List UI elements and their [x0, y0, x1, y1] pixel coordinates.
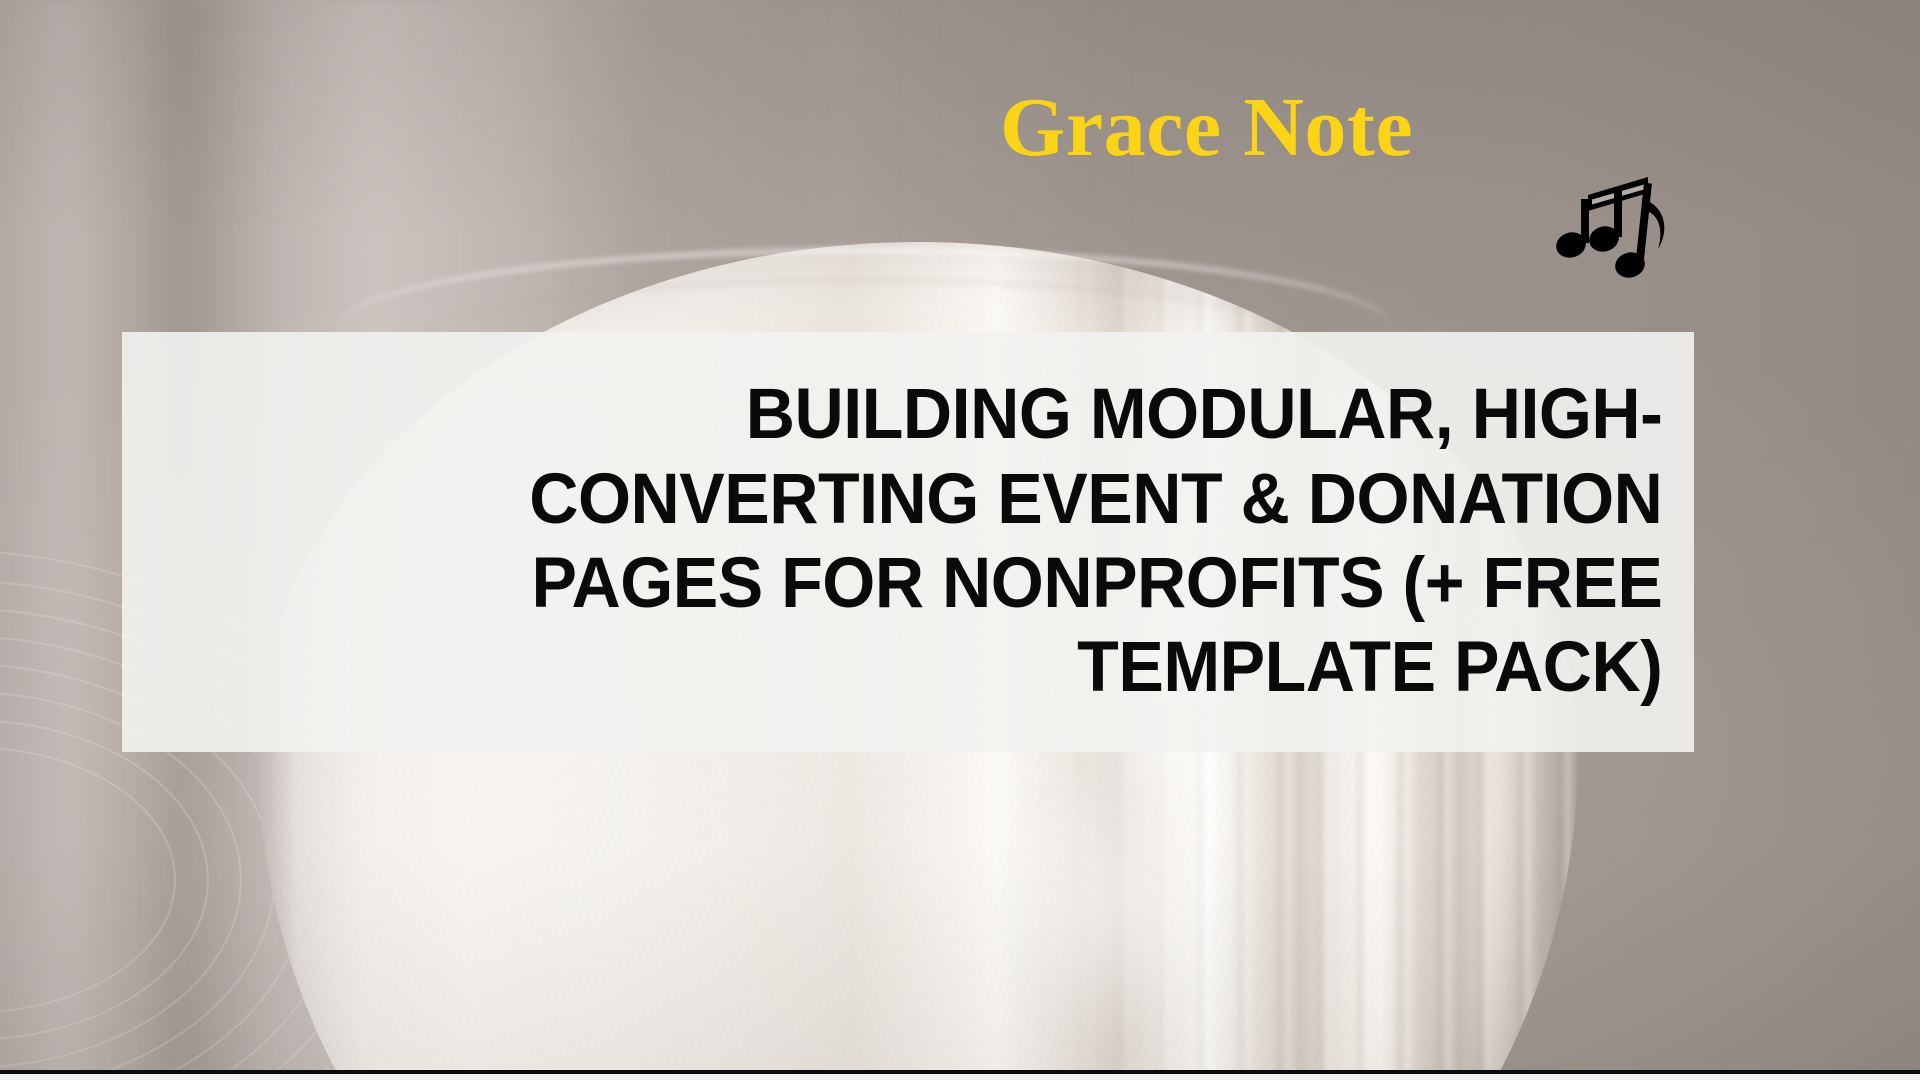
- slide-canvas: Grace Note BUILDING: [0, 0, 1920, 1080]
- headline-line: BUILDING MODULAR, HIGH-: [745, 375, 1662, 454]
- headline-line: CONVERTING EVENT & DONATION: [529, 460, 1662, 539]
- bottom-strip: [0, 1074, 1920, 1080]
- headline-line: PAGES FOR NONPROFITS (+ FREE: [531, 544, 1662, 623]
- brand-logo: Grace Note: [1000, 86, 1413, 170]
- headline-panel: BUILDING MODULAR, HIGH-CONVERTING EVENT …: [122, 332, 1694, 752]
- page-title: BUILDING MODULAR, HIGH-CONVERTING EVENT …: [529, 373, 1662, 711]
- headline-line: TEMPLATE PACK): [1077, 628, 1662, 707]
- music-note-icon: [1552, 155, 1682, 280]
